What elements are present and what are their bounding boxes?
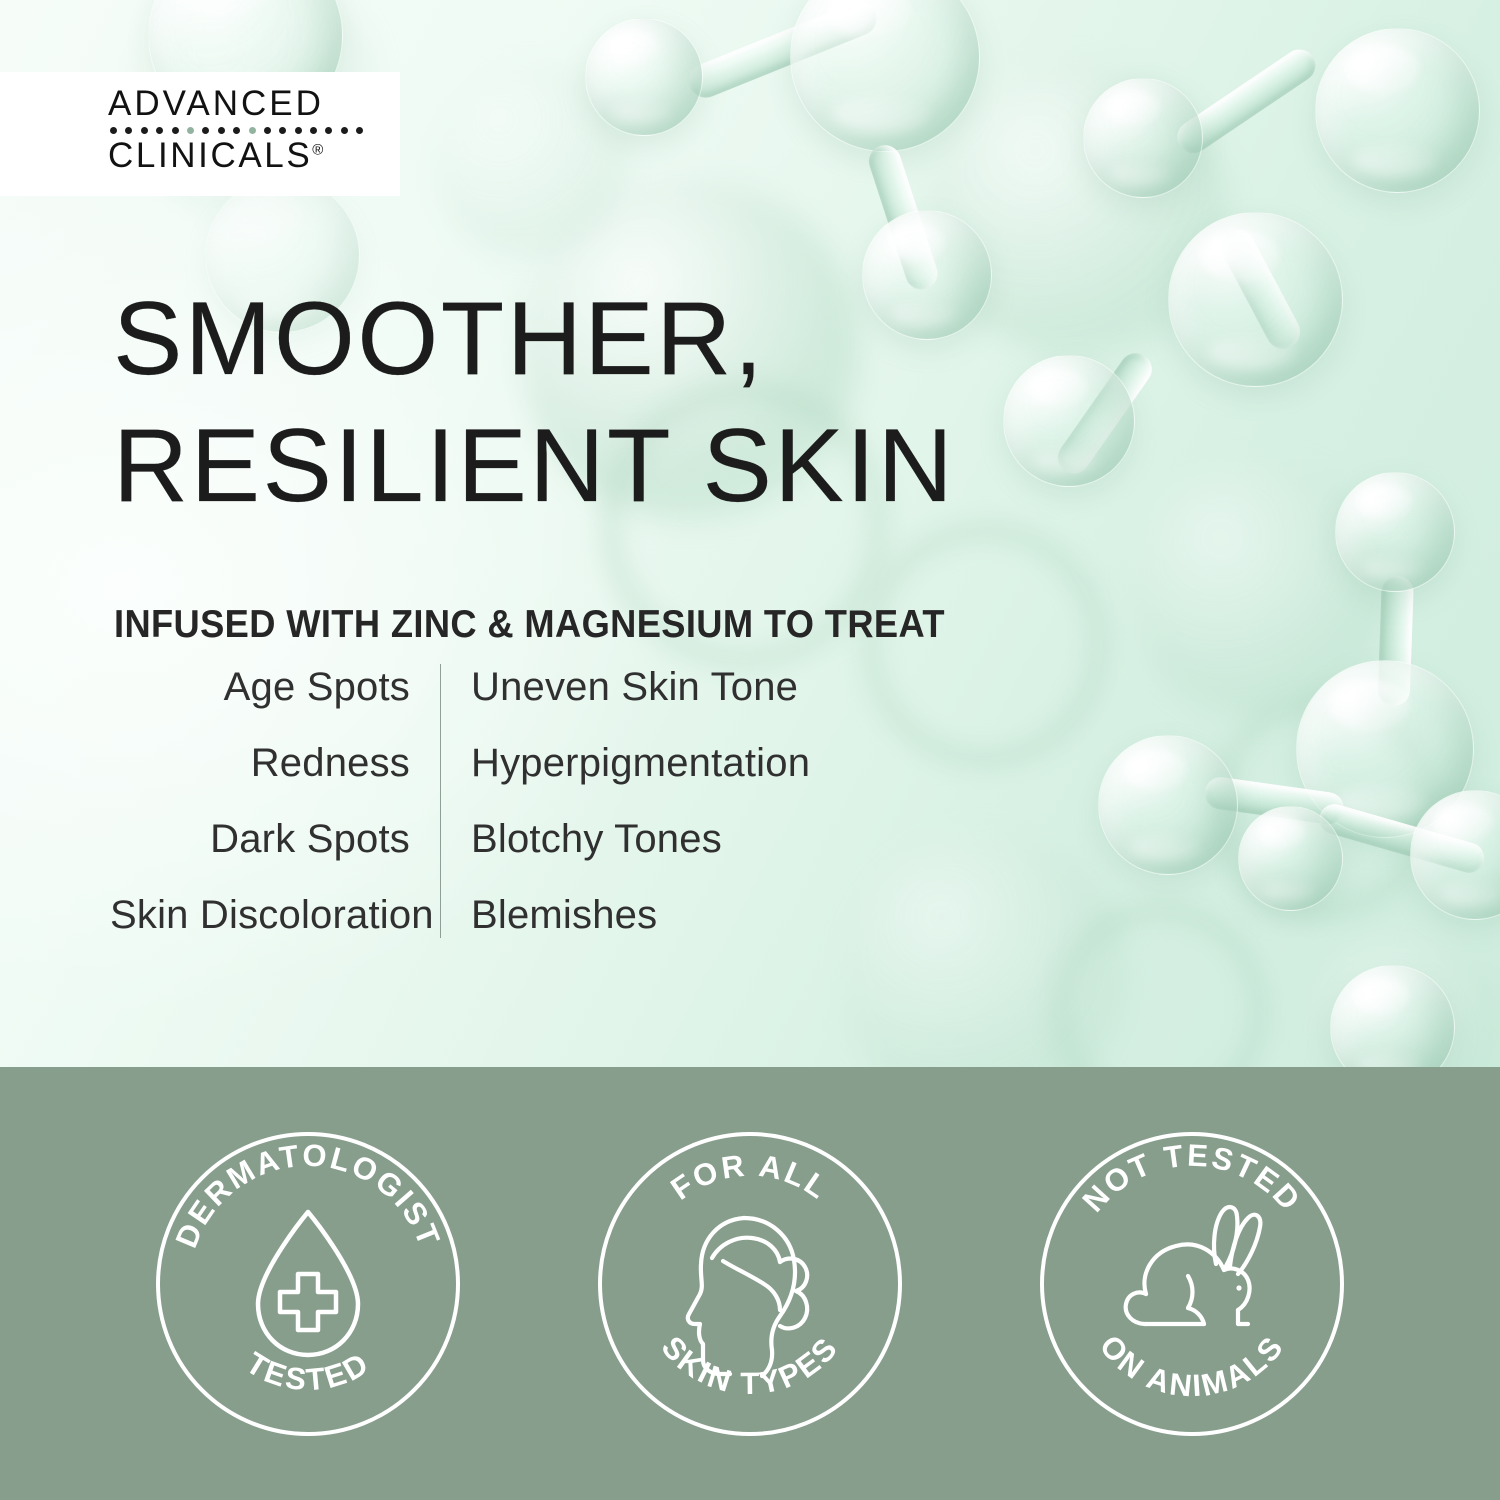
benefit-item: Blotchy Tones — [471, 812, 810, 866]
badge-for-all-skin-types: FOR ALL SKIN TYPES — [594, 1128, 906, 1440]
benefit-item: Hyperpigmentation — [471, 736, 810, 790]
benefits-list: Age Spots Redness Dark Spots Skin Discol… — [110, 660, 810, 942]
logo-dot-accent — [249, 127, 256, 134]
molecule-sphere — [1335, 472, 1455, 592]
badge-bottom-text: ON ANIMALS — [1093, 1328, 1291, 1403]
logo-dot — [125, 127, 132, 134]
woman-face-profile-icon — [688, 1218, 807, 1376]
molecule-sphere — [585, 18, 703, 136]
logo-line-clinicals: CLINICALS® — [108, 138, 388, 174]
certification-badges-bar: DERMATOLOGIST TESTED — [0, 1067, 1500, 1500]
registered-trademark-mark: ® — [312, 141, 323, 158]
molecule-sphere — [1003, 355, 1135, 487]
benefits-left-column: Age Spots Redness Dark Spots Skin Discol… — [110, 660, 440, 942]
droplet-cross-icon — [258, 1212, 358, 1355]
logo-dot — [295, 127, 302, 134]
logo-dot-accent — [187, 127, 194, 134]
svg-text:ON ANIMALS: ON ANIMALS — [1093, 1328, 1291, 1403]
benefit-item: Blemishes — [471, 888, 810, 942]
molecule-sphere — [1315, 28, 1480, 193]
logo-dot — [310, 127, 317, 134]
badge-top-text: NOT TESTED — [1076, 1137, 1309, 1218]
benefit-item: Dark Spots — [110, 812, 410, 866]
benefit-item: Uneven Skin Tone — [471, 660, 810, 714]
logo-clinicals-text: CLINICALS — [108, 136, 312, 175]
molecule-sphere — [1238, 806, 1343, 911]
svg-text:NOT TESTED: NOT TESTED — [1076, 1137, 1309, 1218]
logo-dot — [218, 127, 225, 134]
badge-top-text: DERMATOLOGIST — [169, 1137, 448, 1252]
molecule-sphere — [1098, 735, 1238, 875]
logo-line-advanced: ADVANCED — [108, 86, 388, 122]
headline-line-1: SMOOTHER, — [113, 288, 955, 391]
badge-dermatologist-tested: DERMATOLOGIST TESTED — [152, 1128, 464, 1440]
logo-dot — [325, 127, 332, 134]
subheading: INFUSED WITH ZINC & MAGNESIUM TO TREAT — [114, 603, 945, 647]
badge-top-text: FOR ALL — [664, 1147, 835, 1206]
svg-text:SKIN TYPES: SKIN TYPES — [655, 1329, 846, 1401]
logo-dot — [156, 127, 163, 134]
molecule-sphere — [1083, 78, 1203, 198]
logo-dot — [264, 127, 271, 134]
logo-dot — [202, 127, 209, 134]
svg-text:FOR ALL: FOR ALL — [664, 1147, 835, 1206]
headline: SMOOTHER, RESILIENT SKIN — [113, 288, 955, 518]
benefit-item: Age Spots — [110, 660, 410, 714]
benefit-item: Skin Discoloration — [110, 888, 410, 942]
svg-text:DERMATOLOGIST: DERMATOLOGIST — [169, 1137, 448, 1252]
column-divider — [440, 664, 441, 938]
badge-bottom-text: SKIN TYPES — [655, 1329, 846, 1401]
logo-dot — [341, 127, 348, 134]
product-marketing-poster: ADVANCED CLINICALS® SMOOTHER, RESILIENT … — [0, 0, 1500, 1500]
logo-dot — [233, 127, 240, 134]
molecule-sphere — [1168, 212, 1343, 387]
logo-dot — [279, 127, 286, 134]
badge-not-tested-on-animals: NOT TESTED ON ANIMALS — [1036, 1128, 1348, 1440]
logo-dot — [172, 127, 179, 134]
molecule-sphere — [790, 0, 980, 152]
logo-dot — [141, 127, 148, 134]
rabbit-icon — [1126, 1207, 1261, 1324]
benefits-right-column: Uneven Skin Tone Hyperpigmentation Blotc… — [441, 660, 810, 942]
logo-dot — [110, 127, 117, 134]
logo-dot — [356, 127, 363, 134]
logo-dot-divider — [110, 127, 388, 134]
headline-line-2: RESILIENT SKIN — [113, 415, 955, 518]
brand-logo[interactable]: ADVANCED CLINICALS® — [108, 86, 388, 173]
benefit-item: Redness — [110, 736, 410, 790]
